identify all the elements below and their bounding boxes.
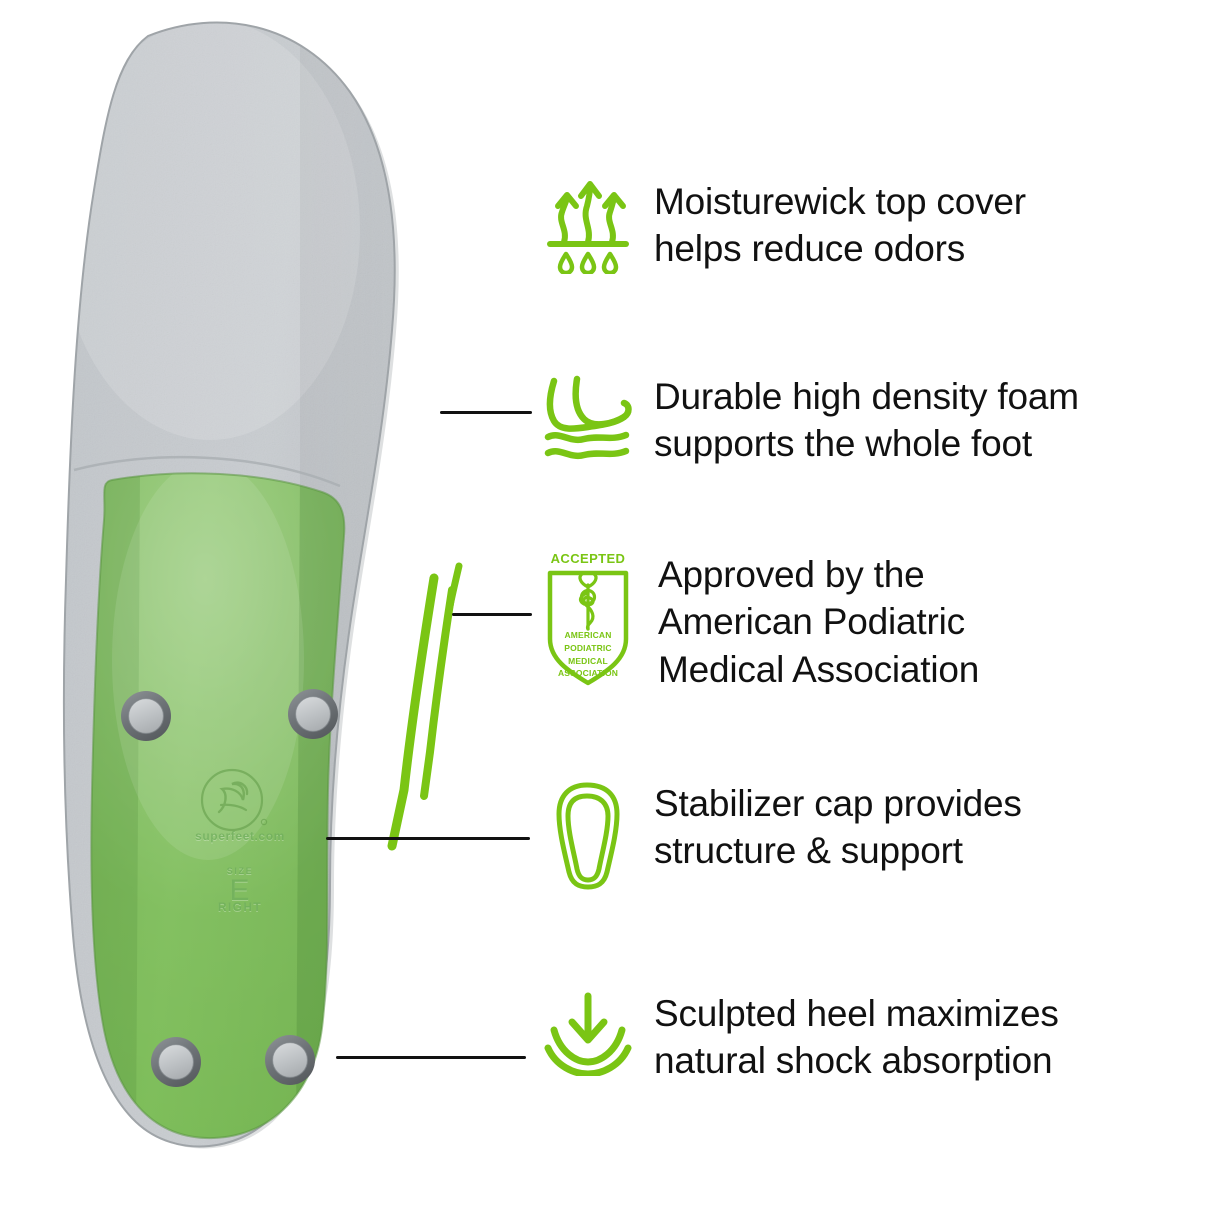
foot-waves-icon bbox=[540, 373, 636, 463]
leader-line-heel bbox=[336, 1056, 526, 1059]
callout-stabilizer-text: Stabilizer cap provides structure & supp… bbox=[636, 780, 1022, 875]
insole-product-image: superfeet.com SIZE E RIGHT bbox=[0, 0, 540, 1214]
leader-line-apma bbox=[452, 613, 532, 616]
callout-foam-text: Durable high density foam supports the w… bbox=[636, 373, 1079, 468]
callout-foam: Durable high density foam supports the w… bbox=[540, 373, 1079, 468]
callout-moisturewick-text: Moisturewick top cover helps reduce odor… bbox=[636, 178, 1026, 273]
callout-moisturewick: Moisturewick top cover helps reduce odor… bbox=[540, 178, 1026, 274]
moisture-arrows-icon bbox=[540, 178, 636, 274]
shock-absorption-icon bbox=[540, 990, 636, 1076]
callout-heel: Sculpted heel maximizes natural shock ab… bbox=[540, 990, 1059, 1085]
seal-accepted-label: ACCEPTED bbox=[542, 551, 634, 566]
side-label-emboss: RIGHT bbox=[160, 900, 320, 914]
callout-apma: ACCEPTED AMERICAN PODIATRIC MEDICAL ASSO… bbox=[540, 551, 979, 693]
brand-url-emboss: superfeet.com bbox=[150, 829, 330, 843]
grommet-lower-left bbox=[151, 1037, 201, 1087]
leader-line-foam bbox=[440, 411, 532, 414]
grommet-upper-right bbox=[288, 689, 338, 739]
stabilizer-cap-icon bbox=[540, 780, 636, 890]
leader-line-stabilizer bbox=[326, 837, 530, 840]
callout-heel-text: Sculpted heel maximizes natural shock ab… bbox=[636, 990, 1059, 1085]
seal-organization-label: AMERICAN PODIATRIC MEDICAL ASSOCIATION bbox=[542, 629, 634, 680]
stabilizer-accent-strokes bbox=[392, 566, 459, 846]
grommet-upper-left bbox=[121, 691, 171, 741]
grommet-lower-right bbox=[265, 1035, 315, 1085]
insole-feature-diagram: superfeet.com SIZE E RIGHT bbox=[0, 0, 1214, 1214]
callout-apma-text: Approved by the American Podiatric Medic… bbox=[636, 551, 979, 693]
callout-stabilizer: Stabilizer cap provides structure & supp… bbox=[540, 780, 1022, 890]
